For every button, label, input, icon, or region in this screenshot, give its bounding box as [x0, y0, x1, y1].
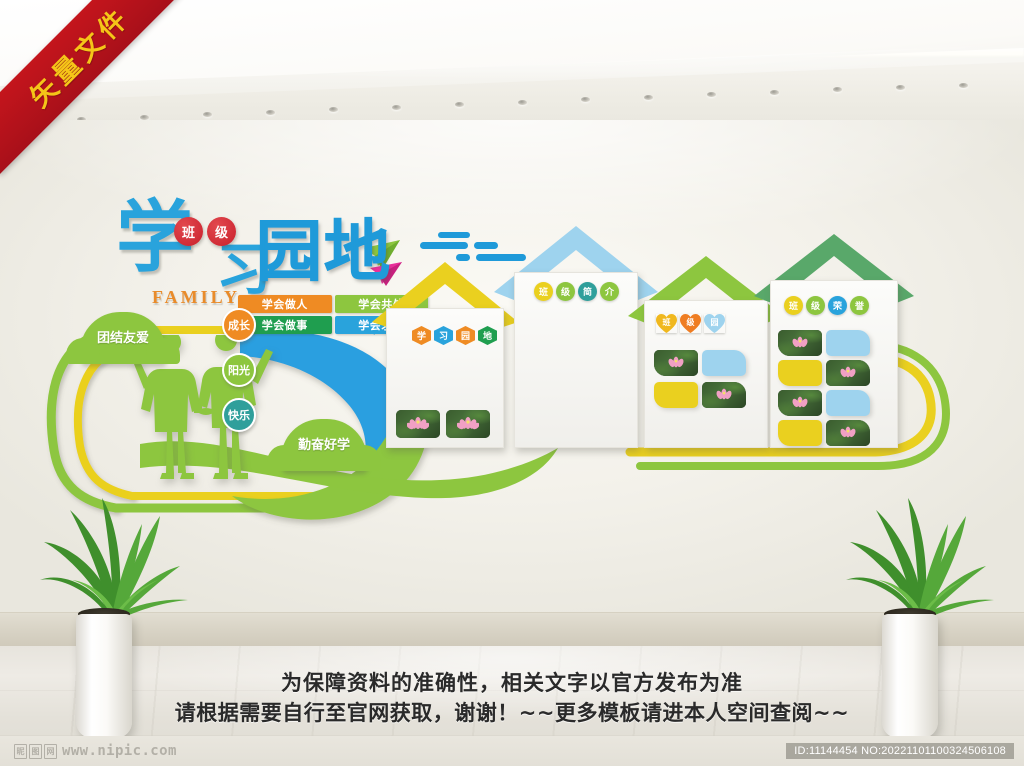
house-4-title-chip-4: 誉: [850, 296, 869, 315]
downlight-3: [140, 115, 149, 120]
footer-bar: 昵图网 www.nipic.com ID:11144454 NO:2022110…: [0, 736, 1024, 766]
house-1-photo-1[interactable]: [396, 410, 440, 438]
notice-block: 为保障资料的准确性，相关文字以官方发布为准 请根据需要自行至官网获取，谢谢！~~…: [0, 668, 1024, 729]
downlight-6: [329, 107, 338, 112]
house-3-photo-2[interactable]: [702, 382, 746, 408]
downlight-7: [392, 105, 401, 110]
brand-logo-icon: 昵图网: [14, 744, 57, 759]
lotus-icon: [407, 414, 429, 432]
wall-mockup-stage: 学 习 园地 FAMILY 班 级 学会做人学会共处学会做事学会求知: [0, 0, 1024, 766]
lotus-icon: [457, 414, 479, 432]
house-3-title-chip-1: 班: [656, 314, 677, 333]
house-4-photo-1[interactable]: [778, 330, 822, 356]
lotus-icon: [838, 424, 858, 440]
house-1-title-chip-1: 学: [412, 326, 431, 345]
house-2-title: 班级简介: [534, 282, 619, 301]
house-4-block-blue-1[interactable]: [826, 330, 870, 356]
house-3-photo-1[interactable]: [654, 350, 698, 376]
lotus-icon: [838, 364, 858, 380]
house-3-title-chip-2: 级: [680, 314, 701, 333]
downlight-14: [833, 87, 842, 92]
house-4-title-chip-2: 级: [806, 296, 825, 315]
potted-plant-left: [30, 480, 190, 625]
house-3-title-chip-3: 园: [704, 314, 725, 333]
banji-badge-1: 班: [174, 217, 203, 246]
pill-badge-1: 成长: [222, 308, 256, 342]
downlight-10: [581, 97, 590, 102]
house-4-photo-4[interactable]: [826, 420, 870, 446]
downlight-5: [266, 110, 275, 115]
banji-badge-group: 班 级: [174, 217, 236, 246]
house-4-block-yellow-1[interactable]: [778, 360, 822, 386]
house-2-title-chip-1: 班: [534, 282, 553, 301]
house-4-photo-2[interactable]: [826, 360, 870, 386]
plant-leaves-left: [30, 480, 190, 620]
house-4-title-chip-3: 荣: [828, 296, 847, 315]
house-4-photo-3[interactable]: [778, 390, 822, 416]
house-2-title-chip-3: 简: [578, 282, 597, 301]
brand-glyph-2: 图: [29, 744, 42, 759]
house-2-title-chip-2: 级: [556, 282, 575, 301]
brand-url: www.nipic.com: [62, 743, 177, 759]
downlight-9: [518, 100, 527, 105]
house-3-block-yellow[interactable]: [654, 382, 698, 408]
asset-id-badge: ID:11144454 NO:20221101100324506108: [786, 743, 1014, 759]
cloud-left-label: 团结友爱: [97, 331, 149, 346]
brand-glyph-1: 昵: [14, 744, 27, 759]
banji-badge-2: 级: [207, 217, 236, 246]
house-4-title-chip-1: 班: [784, 296, 803, 315]
house-2-title-chip-4: 介: [600, 282, 619, 301]
house-4-block-yellow-2[interactable]: [778, 420, 822, 446]
house-1-title-chip-4: 地: [478, 326, 497, 345]
pill-badge-3: 快乐: [222, 398, 256, 432]
house-1-title-chip-3: 园: [456, 326, 475, 345]
house-1-title: 学习园地: [412, 326, 497, 345]
notice-line-2: 请根据需要自行至官网获取，谢谢！~~更多模板请进本人空间查阅~~: [0, 698, 1024, 728]
house-4-title: 班级荣誉: [784, 296, 869, 315]
downlight-13: [770, 90, 779, 95]
downlight-11: [644, 95, 653, 100]
downlight-15: [896, 85, 905, 90]
cloud-badge-unity: 团结友爱: [80, 312, 166, 364]
house-1-title-chip-2: 习: [434, 326, 453, 345]
lotus-icon: [790, 394, 810, 410]
site-watermark: 昵图网 www.nipic.com: [14, 743, 177, 759]
notice-line-1: 为保障资料的准确性，相关文字以官方发布为准: [0, 668, 1024, 698]
downlight-8: [455, 102, 464, 107]
downlight-12: [707, 92, 716, 97]
downlight-16: [959, 83, 968, 88]
lotus-icon: [790, 334, 810, 350]
lotus-icon: [666, 354, 686, 370]
house-3-block-blue[interactable]: [702, 350, 746, 376]
cloud-badge-diligence: 勤奋好学: [281, 419, 367, 471]
house-3-title: 班级园: [656, 314, 725, 333]
house-1-photo-2[interactable]: [446, 410, 490, 438]
house-4-block-blue-2[interactable]: [826, 390, 870, 416]
brand-glyph-3: 网: [44, 744, 57, 759]
downlight-4: [203, 112, 212, 117]
headline-family-text: FAMILY: [152, 287, 240, 308]
lotus-icon: [714, 386, 734, 402]
pill-badge-2: 阳光: [222, 353, 256, 387]
house-panel-4[interactable]: 班级荣誉: [752, 232, 916, 450]
plant-leaves-right: [836, 480, 996, 620]
cloud-right-label: 勤奋好学: [298, 438, 350, 453]
potted-plant-right: [836, 480, 996, 625]
pill-badge-group: 成长阳光快乐: [222, 308, 256, 443]
wall-graphic-group: 学 习 园地 FAMILY 班 级 学会做人学会共处学会做事学会求知: [0, 120, 1024, 520]
downlight-row: [0, 56, 1024, 128]
